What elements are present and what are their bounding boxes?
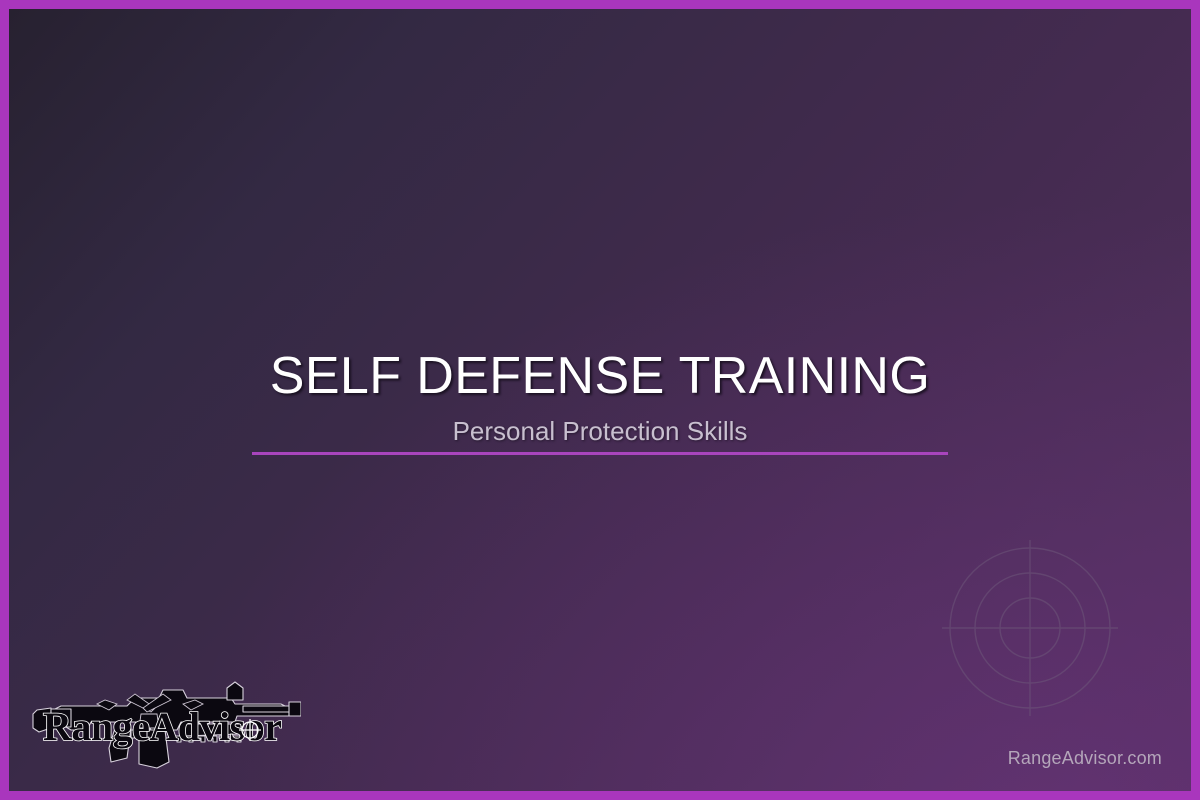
rangeadvisor-logo: RangeAdvisor <box>31 678 301 778</box>
page-subtitle: Personal Protection Skills <box>9 413 1191 449</box>
logo-wordmark: RangeAdvisor <box>43 704 281 749</box>
presentation-slide: SELF DEFENSE TRAINING Personal Protectio… <box>0 0 1200 800</box>
title-divider <box>252 452 948 455</box>
slide-canvas: SELF DEFENSE TRAINING Personal Protectio… <box>9 9 1191 791</box>
target-crosshair-icon <box>940 538 1120 718</box>
website-url-label: RangeAdvisor.com <box>1008 748 1162 769</box>
page-title: SELF DEFENSE TRAINING <box>9 345 1191 407</box>
